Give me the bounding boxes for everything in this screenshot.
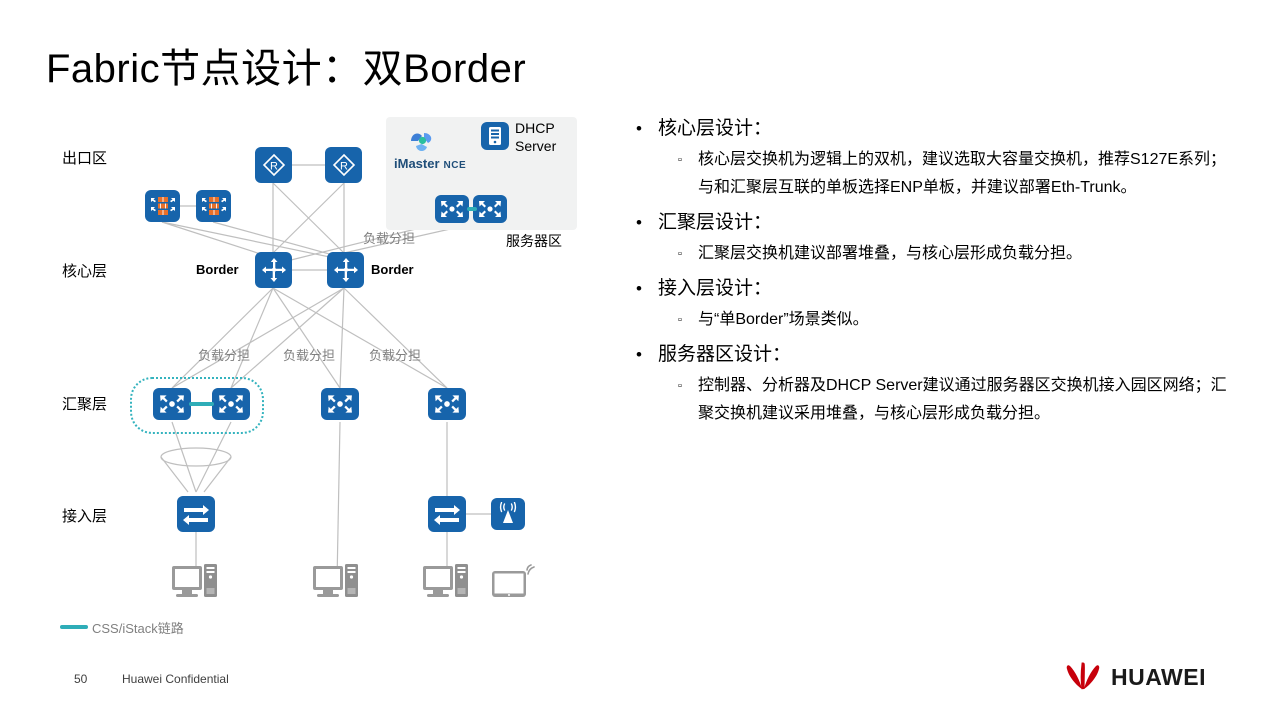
network-topology-diagram: 出口区 核心层 汇聚层 接入层 iMasterNCE	[0, 100, 620, 660]
aggregation-switch-2[interactable]	[212, 388, 250, 420]
svg-text:R: R	[270, 161, 278, 173]
page-number: 50	[74, 672, 87, 686]
bullet-heading: 汇聚层设计：	[658, 208, 772, 238]
legend-css-link-swatch	[60, 625, 88, 629]
server-zone-switch-left[interactable]	[435, 195, 469, 223]
egress-router-right[interactable]: R	[325, 147, 362, 183]
bullet-level2: ▫ 汇聚层交换机建议部署堆叠，与核心层形成负载分担。	[678, 240, 1246, 268]
dhcp-server-label: DHCP Server	[515, 119, 556, 155]
sub-bullet-square-icon: ▫	[678, 240, 698, 268]
access-switch-left[interactable]	[177, 496, 215, 532]
bullet-dot-icon: •	[636, 208, 658, 238]
css-link-server-zone	[467, 207, 477, 211]
bullet-heading: 服务器区设计：	[658, 340, 791, 370]
sub-bullet-text: 汇聚层交换机建议部署堆叠，与核心层形成负载分担。	[698, 240, 1082, 268]
dhcp-server-icon	[481, 122, 509, 150]
endpoint-tablet	[489, 562, 537, 604]
sub-bullet-square-icon: ▫	[678, 306, 698, 334]
bullet-group-access: • 接入层设计： ▫ 与“单Border”场景类似。	[636, 274, 1246, 334]
bullet-group-server-zone: • 服务器区设计： ▫ 控制器、分析器及DHCP Server建议通过服务器区交…	[636, 340, 1246, 428]
bullet-level2: ▫ 核心层交换机为逻辑上的双机，建议选取大容量交换机，推荐S127E系列；与和汇…	[678, 146, 1246, 202]
aggregation-switch-3[interactable]	[321, 388, 359, 420]
bullet-level1: • 接入层设计：	[636, 274, 1246, 304]
border-label-right: Border	[371, 262, 414, 277]
imaster-nce-logo-icon	[405, 128, 439, 154]
bullet-level1: • 服务器区设计：	[636, 340, 1246, 370]
wireless-ap-icon[interactable]	[491, 498, 525, 530]
bullet-dot-icon: •	[636, 274, 658, 304]
bullet-group-aggregation: • 汇聚层设计： ▫ 汇聚层交换机建议部署堆叠，与核心层形成负载分担。	[636, 208, 1246, 268]
load-share-label-2: 负载分担	[283, 345, 335, 364]
huawei-wordmark: HUAWEI	[1111, 664, 1206, 691]
bullet-heading: 接入层设计：	[658, 274, 772, 304]
bullet-heading: 核心层设计：	[658, 114, 772, 144]
imaster-nce-label: iMasterNCE	[394, 156, 466, 171]
bullet-level2: ▫ 与“单Border”场景类似。	[678, 306, 1246, 334]
page-title: Fabric节点设计：双Border	[46, 36, 526, 94]
confidentiality-notice: Huawei Confidential	[122, 672, 229, 686]
bullet-dot-icon: •	[636, 340, 658, 370]
layer-label-aggregation: 汇聚层	[62, 393, 107, 414]
core-border-switch-right[interactable]	[327, 252, 364, 288]
firewall-left[interactable]	[145, 190, 180, 222]
load-share-label-serverzone: 负载分担	[363, 228, 415, 247]
sub-bullet-square-icon: ▫	[678, 146, 698, 202]
load-share-label-3: 负载分担	[369, 345, 421, 364]
legend-css-link-label: CSS/iStack链路	[92, 618, 184, 637]
layer-label-core: 核心层	[62, 260, 107, 281]
load-share-label-1: 负载分担	[198, 345, 250, 364]
css-link-aggregation	[189, 402, 214, 406]
imaster-suffix: NCE	[444, 160, 467, 171]
bullet-level2: ▫ 控制器、分析器及DHCP Server建议通过服务器区交换机接入园区网络；汇…	[678, 372, 1246, 428]
sub-bullet-text: 核心层交换机为逻辑上的双机，建议选取大容量交换机，推荐S127E系列；与和汇聚层…	[698, 146, 1238, 202]
firewall-right[interactable]	[196, 190, 231, 222]
server-zone-switch-right[interactable]	[473, 195, 507, 223]
dhcp-label-line2: Server	[515, 137, 556, 155]
access-switch-right[interactable]	[428, 496, 466, 532]
bullet-dot-icon: •	[636, 114, 658, 144]
egress-router-left[interactable]: R	[255, 147, 292, 183]
bullet-level1: • 核心层设计：	[636, 114, 1246, 144]
endpoint-pc-2	[311, 562, 363, 604]
core-border-switch-left[interactable]	[255, 252, 292, 288]
sub-bullet-text: 与“单Border”场景类似。	[698, 306, 869, 334]
imaster-name: iMaster	[394, 156, 440, 171]
layer-label-access: 接入层	[62, 505, 107, 526]
bullet-group-core: • 核心层设计： ▫ 核心层交换机为逻辑上的双机，建议选取大容量交换机，推荐S1…	[636, 114, 1246, 202]
svg-text:R: R	[340, 161, 348, 173]
slide-root: Fabric节点设计：双Border	[0, 0, 1280, 720]
content-bullet-list: • 核心层设计： ▫ 核心层交换机为逻辑上的双机，建议选取大容量交换机，推荐S1…	[636, 112, 1246, 434]
huawei-logo: HUAWEI	[1063, 662, 1206, 692]
server-zone-label: 服务器区	[506, 231, 562, 251]
dhcp-label-line1: DHCP	[515, 119, 556, 137]
border-label-left: Border	[196, 262, 239, 277]
endpoint-pc-3	[421, 562, 473, 604]
aggregation-switch-4[interactable]	[428, 388, 466, 420]
endpoint-pc-1	[170, 562, 222, 604]
huawei-flower-icon	[1063, 662, 1103, 692]
sub-bullet-text: 控制器、分析器及DHCP Server建议通过服务器区交换机接入园区网络；汇聚交…	[698, 372, 1238, 428]
aggregation-switch-1[interactable]	[153, 388, 191, 420]
layer-label-egress: 出口区	[62, 147, 107, 168]
bullet-level1: • 汇聚层设计：	[636, 208, 1246, 238]
sub-bullet-square-icon: ▫	[678, 372, 698, 428]
